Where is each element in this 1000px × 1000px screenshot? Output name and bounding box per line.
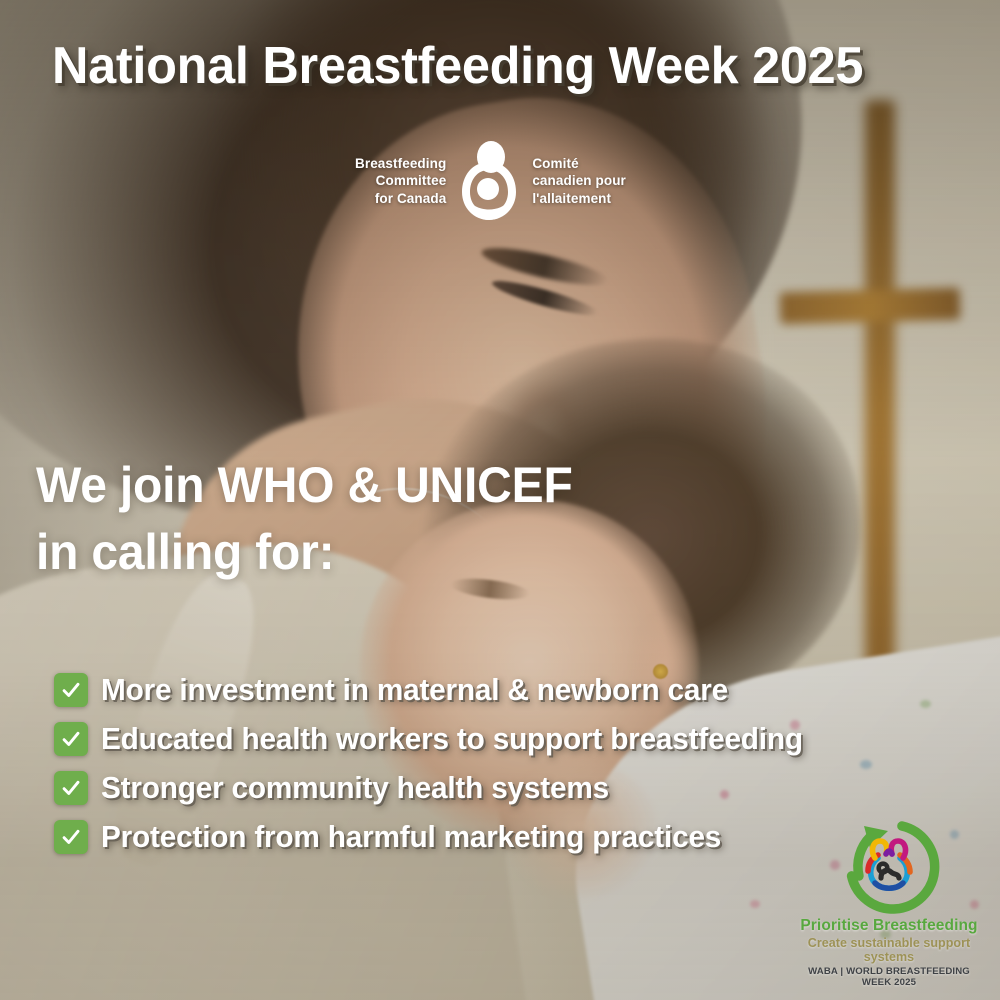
waba-logo: Prioritise Breastfeeding Create sustaina… [796,816,982,988]
checklist-item-label: Stronger community health systems [101,770,609,806]
bcc-logo: Breastfeeding Committee for Canada Comit [355,140,626,222]
bcc-en-line1: Breastfeeding [355,155,446,172]
checkmark-icon [54,820,88,854]
checklist-item: More investment in maternal & newborn ca… [54,672,832,708]
checklist-item-label: More investment in maternal & newborn ca… [101,672,728,708]
bcc-logo-text-french: Comité canadien pour l'allaitement [532,155,626,207]
checklist-item-label: Protection from harmful marketing practi… [101,819,721,855]
waba-attribution: WABA | WORLD BREASTFEEDING WEEK 2025 [796,966,982,988]
waba-circular-arrow-icon [837,816,941,916]
poster-content: National Breastfeeding Week 2025 Breastf… [0,0,1000,1000]
checklist-item: Educated health workers to support breas… [54,721,832,757]
checklist: More investment in maternal & newborn ca… [54,672,832,855]
waba-tagline-secondary: Create sustainable support systems [796,936,982,964]
headline: We join WHO & UNICEF in calling for: [36,452,573,586]
bcc-en-line3: for Canada [355,190,446,207]
page-title: National Breastfeeding Week 2025 [52,36,863,96]
waba-tagline-primary: Prioritise Breastfeeding [800,917,977,935]
bcc-fr-line1: Comité [532,155,626,172]
bcc-fr-line2: canadien pour [532,172,626,189]
bcc-en-line2: Committee [355,172,446,189]
bcc-fr-line3: l'allaitement [532,190,626,207]
checklist-item-label: Educated health workers to support breas… [101,721,803,757]
poster: National Breastfeeding Week 2025 Breastf… [0,0,1000,1000]
checklist-item: Stronger community health systems [54,770,832,806]
checkmark-icon [54,722,88,756]
headline-line-2: in calling for: [36,519,573,586]
checkmark-icon [54,673,88,707]
checkmark-icon [54,771,88,805]
bcc-logo-text-english: Breastfeeding Committee for Canada [355,155,446,207]
mother-and-baby-icon [458,140,520,222]
checklist-item: Protection from harmful marketing practi… [54,819,832,855]
headline-line-1: We join WHO & UNICEF [36,452,573,519]
